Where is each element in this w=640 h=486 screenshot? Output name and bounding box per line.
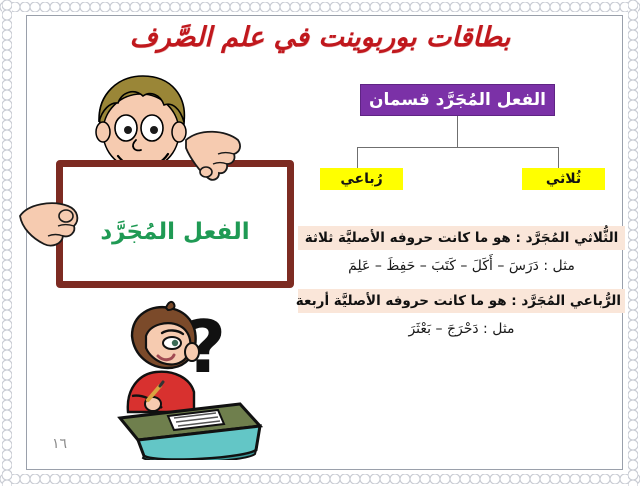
connector-drop-left bbox=[357, 147, 358, 168]
thinking-student-illustration: ? bbox=[98, 300, 273, 460]
diagram-root-node[interactable]: الفعل المُجَرَّد قسمان bbox=[360, 84, 555, 116]
definition-example-rubai: مثل : دَحْرَجَ – بَعْثَرَ bbox=[298, 313, 625, 346]
pointing-hand-icon-left bbox=[18, 200, 80, 252]
concept-diagram: الفعل المُجَرَّد قسمان رُباعي ثُلاثي bbox=[300, 84, 625, 204]
diagram-leaf-rubai[interactable]: رُباعي bbox=[320, 168, 403, 190]
whiteboard: الفعل المُجَرَّد bbox=[56, 160, 294, 288]
pointing-hand-icon-top bbox=[182, 130, 244, 186]
connector-bar bbox=[357, 147, 559, 148]
definition-band-rubai: الرُّباعي المُجَرَّد : هو ما كانت حروفه … bbox=[298, 289, 625, 313]
decorative-scallop-right-border bbox=[628, 0, 638, 486]
diagram-leaf-thulathi[interactable]: ثُلاثي bbox=[522, 168, 605, 190]
page-title: بطاقات بوربوينت في علم الصَّرف bbox=[0, 22, 640, 53]
connector-drop-right bbox=[558, 147, 559, 168]
whiteboard-label: الفعل المُجَرَّد bbox=[63, 219, 287, 245]
slide-card: بطاقات بوربوينت في علم الصَّرف bbox=[0, 0, 640, 486]
connector-stem bbox=[457, 116, 458, 147]
definition-example-thulathi: مثل : دَرَسَ – أَكَلَ – كَتَبَ – حَفِظَ … bbox=[298, 250, 625, 283]
boy-with-whiteboard-illustration: الفعل المُجَرَّد bbox=[34, 72, 304, 292]
definition-band-thulathi: الثُّلاثي المُجَرَّد : هو ما كانت حروفه … bbox=[298, 226, 625, 250]
decorative-scallop-left-border bbox=[2, 0, 12, 486]
decorative-scallop-bottom-border bbox=[0, 474, 640, 484]
decorative-scallop-top-border bbox=[0, 2, 640, 12]
definitions-list: الثُّلاثي المُجَرَّد : هو ما كانت حروفه … bbox=[298, 226, 625, 346]
page-number: ١٦ bbox=[52, 436, 67, 452]
